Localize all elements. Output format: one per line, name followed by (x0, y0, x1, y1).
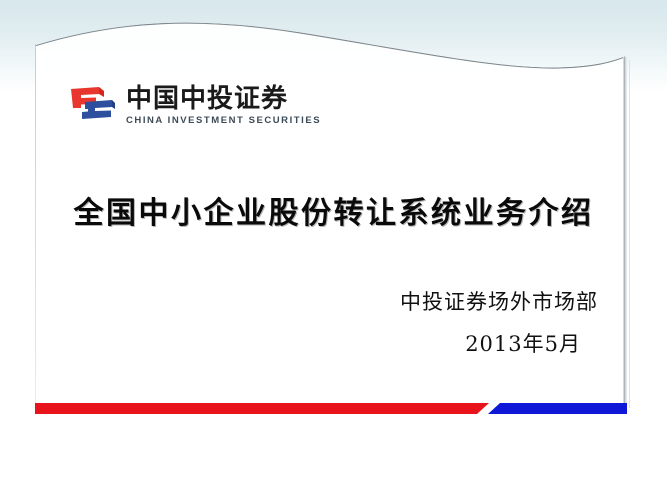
frame-right-line (623, 57, 627, 409)
red-accent-bar (35, 403, 489, 414)
s-curve-wave-icon (0, 0, 667, 92)
frame-right-inner-line (629, 60, 630, 408)
company-name-english: CHINA INVESTMENT SECURITIES (126, 115, 321, 127)
company-logo: 中国中投证券 CHINA INVESTMENT SECURITIES (68, 84, 321, 127)
subtitle-department: 中投证券场外市场部 (0, 286, 598, 316)
top-gradient-band (0, 0, 667, 92)
blue-accent-bar (488, 403, 627, 414)
company-name-chinese: 中国中投证券 (126, 84, 321, 114)
page-title: 全国中小企业股份转让系统业务介绍 (0, 188, 667, 232)
bottom-accent-bars (0, 392, 667, 418)
subtitle-date: 2013年5月 (0, 328, 581, 358)
presentation-title-slide: 中国中投证券 CHINA INVESTMENT SECURITIES 全国中小企… (0, 0, 667, 500)
company-logo-text: 中国中投证券 CHINA INVESTMENT SECURITIES (126, 84, 321, 127)
company-logo-mark-icon (68, 84, 116, 126)
